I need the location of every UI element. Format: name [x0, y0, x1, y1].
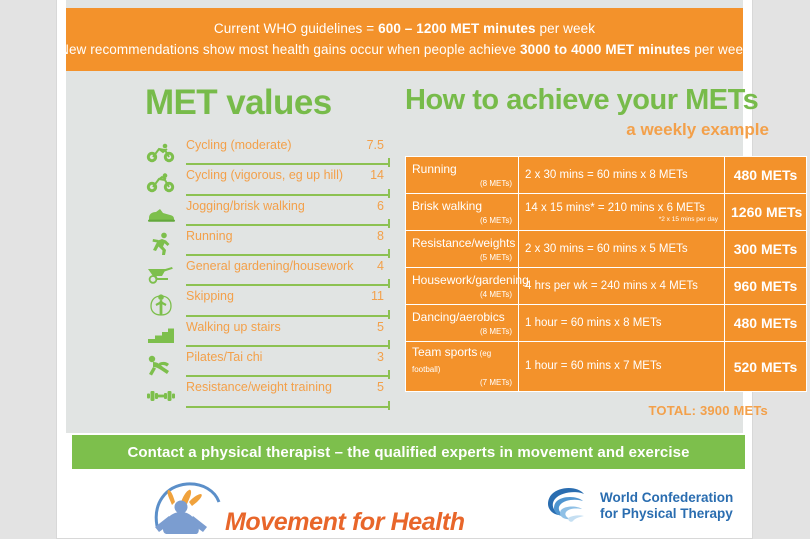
- movement-for-health-mark-icon: [151, 478, 223, 539]
- banner-line-1-pre: Current WHO guidelines =: [214, 21, 378, 36]
- activity-met: (4 METs): [412, 290, 512, 300]
- contact-therapist-text: Contact a physical therapist – the quali…: [127, 444, 689, 461]
- met-row-label: Skipping: [186, 289, 234, 303]
- wcpt-logo: World Confederation for Physical Therapy: [544, 480, 733, 531]
- wcpt-line-2: for Physical Therapy: [600, 506, 733, 521]
- activity-name: Dancing/aerobics: [412, 310, 512, 326]
- met-row-body: Resistance/weight training 5: [186, 380, 390, 410]
- calculation-note: *2 x 15 mins per day: [525, 216, 718, 224]
- wheelbarrow-icon: [145, 262, 177, 286]
- footer: Movement for Health World Confederation …: [66, 470, 743, 538]
- row-tick: [388, 219, 390, 228]
- met-row-value: 6: [377, 199, 390, 213]
- met-row-body: Cycling (vigorous, eg up hill) 14: [186, 168, 390, 198]
- met-row-value: 3: [377, 350, 390, 364]
- activity-name-text: Housework/gardening: [412, 273, 529, 287]
- row-tick: [388, 249, 390, 258]
- shoe-icon: [145, 202, 177, 226]
- met-row-value: 8: [377, 229, 390, 243]
- banner-line-2-post: per week: [690, 42, 749, 57]
- met-row-body: Pilates/Tai chi 3: [186, 350, 390, 380]
- banner-line-1-bold: 600 – 1200 MET minutes: [378, 21, 536, 36]
- met-row-label: Cycling (moderate): [186, 138, 292, 152]
- met-row-body: Skipping 11: [186, 289, 390, 319]
- activity-cell: Resistance/weights (5 METs): [406, 231, 519, 268]
- row-tick: [388, 158, 390, 167]
- calculation-cell: 1 hour = 60 mins x 7 METs: [519, 342, 725, 392]
- met-row-label: Jogging/brisk walking: [186, 199, 305, 213]
- grand-total: TOTAL: 3900 METs: [405, 403, 770, 418]
- wcpt-wordmark: World Confederation for Physical Therapy: [600, 490, 733, 522]
- who-guidelines-banner: Current WHO guidelines = 600 – 1200 MET …: [66, 8, 743, 71]
- met-row-body: Running 8: [186, 229, 390, 259]
- row-tick: [388, 189, 390, 198]
- row-tick: [388, 340, 390, 349]
- met-values-list: Cycling (moderate) 7.5 Cycling (vigorous…: [145, 138, 390, 411]
- met-row-body: General gardening/housework 4: [186, 259, 390, 289]
- met-row: Walking up stairs 5: [145, 320, 390, 350]
- met-row-label: Running: [186, 229, 233, 243]
- activity-met: (8 METs): [412, 327, 512, 337]
- row-rule: [186, 224, 390, 226]
- row-rule: [186, 315, 390, 317]
- row-total: 520 METs: [725, 342, 807, 392]
- met-row-value: 7.5: [367, 138, 390, 152]
- calculation-text: 4 hrs per wk = 240 mins x 4 METs: [525, 279, 718, 293]
- activity-name: Brisk walking: [412, 199, 512, 215]
- met-row: Jogging/brisk walking 6: [145, 199, 390, 229]
- row-total: 960 METs: [725, 268, 807, 305]
- runner-icon: [145, 232, 177, 256]
- table-row: Team sports (eg football) (7 METs) 1 hou…: [406, 342, 807, 392]
- row-rule: [186, 375, 390, 377]
- met-row: General gardening/housework 4: [145, 259, 390, 289]
- activity-name: Team sports (eg football): [412, 345, 512, 377]
- banner-line-2-pre: New recommendations show most health gai…: [59, 42, 520, 57]
- row-total: 480 METs: [725, 157, 807, 194]
- movement-for-health-logo: Movement for Health: [151, 478, 465, 539]
- infographic-card: Current WHO guidelines = 600 – 1200 MET …: [57, 0, 752, 538]
- banner-line-1-post: per week: [536, 21, 595, 36]
- row-rule: [186, 194, 390, 196]
- activity-name: Resistance/weights: [412, 236, 512, 252]
- met-row: Skipping 11: [145, 289, 390, 319]
- pilates-icon: [145, 353, 177, 377]
- table-row: Housework/gardening (4 METs) 4 hrs per w…: [406, 268, 807, 305]
- met-row-value: 5: [377, 320, 390, 334]
- activity-met: (7 METs): [412, 378, 512, 388]
- met-values-section: MET values Cycling (moderate) 7.5: [145, 84, 390, 411]
- met-row-label: Pilates/Tai chi: [186, 350, 262, 364]
- met-row: Cycling (vigorous, eg up hill) 14: [145, 168, 390, 198]
- met-row-value: 4: [377, 259, 390, 273]
- calculation-text: 1 hour = 60 mins x 7 METs: [525, 359, 718, 373]
- table-row: Dancing/aerobics (8 METs) 1 hour = 60 mi…: [406, 305, 807, 342]
- banner-line-2: New recommendations show most health gai…: [59, 42, 750, 58]
- calculation-text: 2 x 30 mins = 60 mins x 5 METs: [525, 242, 718, 256]
- table-row: Resistance/weights (5 METs) 2 x 30 mins …: [406, 231, 807, 268]
- row-rule: [186, 254, 390, 256]
- contact-therapist-banner: Contact a physical therapist – the quali…: [72, 435, 745, 469]
- activity-name-text: Dancing/aerobics: [412, 310, 505, 324]
- met-row: Resistance/weight training 5: [145, 380, 390, 410]
- row-tick: [388, 401, 390, 410]
- met-row-value: 5: [377, 380, 390, 394]
- row-tick: [388, 310, 390, 319]
- met-row-body: Jogging/brisk walking 6: [186, 199, 390, 229]
- activity-cell: Team sports (eg football) (7 METs): [406, 342, 519, 392]
- activity-cell: Housework/gardening (4 METs): [406, 268, 519, 305]
- how-to-achieve-section: How to achieve your METs a weekly exampl…: [405, 84, 770, 418]
- met-row: Cycling (moderate) 7.5: [145, 138, 390, 168]
- activity-name-text: Brisk walking: [412, 199, 482, 213]
- how-to-achieve-subtitle: a weekly example: [405, 120, 770, 140]
- movement-for-health-wordmark: Movement for Health: [225, 508, 465, 537]
- infographic-page: Current WHO guidelines = 600 – 1200 MET …: [0, 0, 810, 538]
- how-to-achieve-title: How to achieve your METs: [405, 84, 770, 116]
- met-row-value: 11: [371, 289, 390, 303]
- calculation-text: 14 x 15 mins* = 210 mins x 6 METs: [525, 201, 718, 215]
- cycling-moderate-icon: [145, 141, 177, 165]
- banner-line-1: Current WHO guidelines = 600 – 1200 MET …: [214, 21, 595, 37]
- row-rule: [186, 163, 390, 165]
- met-row-label: Walking up stairs: [186, 320, 281, 334]
- met-row-value: 14: [370, 168, 390, 182]
- calculation-text: 1 hour = 60 mins x 8 METs: [525, 316, 718, 330]
- calculation-cell: 4 hrs per wk = 240 mins x 4 METs: [519, 268, 725, 305]
- row-rule: [186, 284, 390, 286]
- calculation-cell: 1 hour = 60 mins x 8 METs: [519, 305, 725, 342]
- table-row: Brisk walking (6 METs) 14 x 15 mins* = 2…: [406, 194, 807, 231]
- wcpt-mark-icon: [544, 480, 590, 531]
- activity-name-text: Running: [412, 162, 457, 176]
- activity-met: (8 METs): [412, 179, 512, 189]
- row-total: 1260 METs: [725, 194, 807, 231]
- met-row: Running 8: [145, 229, 390, 259]
- activity-cell: Brisk walking (6 METs): [406, 194, 519, 231]
- met-row: Pilates/Tai chi 3: [145, 350, 390, 380]
- met-row-body: Walking up stairs 5: [186, 320, 390, 350]
- table-row: Running (8 METs) 2 x 30 mins = 60 mins x…: [406, 157, 807, 194]
- activity-cell: Running (8 METs): [406, 157, 519, 194]
- skipping-icon: [145, 293, 177, 317]
- stairs-icon: [145, 323, 177, 347]
- met-row-label: Cycling (vigorous, eg up hill): [186, 168, 343, 182]
- met-values-title: MET values: [145, 84, 390, 122]
- met-row-body: Cycling (moderate) 7.5: [186, 138, 390, 168]
- wcpt-line-1: World Confederation: [600, 490, 733, 505]
- calculation-cell: 14 x 15 mins* = 210 mins x 6 METs *2 x 1…: [519, 194, 725, 231]
- dumbbell-icon: [145, 384, 177, 408]
- cycling-vigorous-icon: [145, 171, 177, 195]
- row-rule: [186, 406, 390, 408]
- activity-met: (6 METs): [412, 216, 512, 226]
- calculation-cell: 2 x 30 mins = 60 mins x 5 METs: [519, 231, 725, 268]
- calculation-text: 2 x 30 mins = 60 mins x 8 METs: [525, 168, 718, 182]
- row-rule: [186, 345, 390, 347]
- activity-name-text: Team sports: [412, 345, 477, 359]
- met-row-label: General gardening/housework: [186, 259, 353, 273]
- row-tick: [388, 370, 390, 379]
- activity-name: Housework/gardening: [412, 273, 512, 289]
- row-tick: [388, 279, 390, 288]
- row-total: 480 METs: [725, 305, 807, 342]
- met-row-label: Resistance/weight training: [186, 380, 332, 394]
- activity-cell: Dancing/aerobics (8 METs): [406, 305, 519, 342]
- banner-line-2-bold: 3000 to 4000 MET minutes: [520, 42, 690, 57]
- row-total: 300 METs: [725, 231, 807, 268]
- activity-name-text: Resistance/weights: [412, 236, 515, 250]
- calculation-cell: 2 x 30 mins = 60 mins x 8 METs: [519, 157, 725, 194]
- activity-name: Running: [412, 162, 512, 178]
- activity-met: (5 METs): [412, 253, 512, 263]
- weekly-example-table: Running (8 METs) 2 x 30 mins = 60 mins x…: [405, 156, 807, 392]
